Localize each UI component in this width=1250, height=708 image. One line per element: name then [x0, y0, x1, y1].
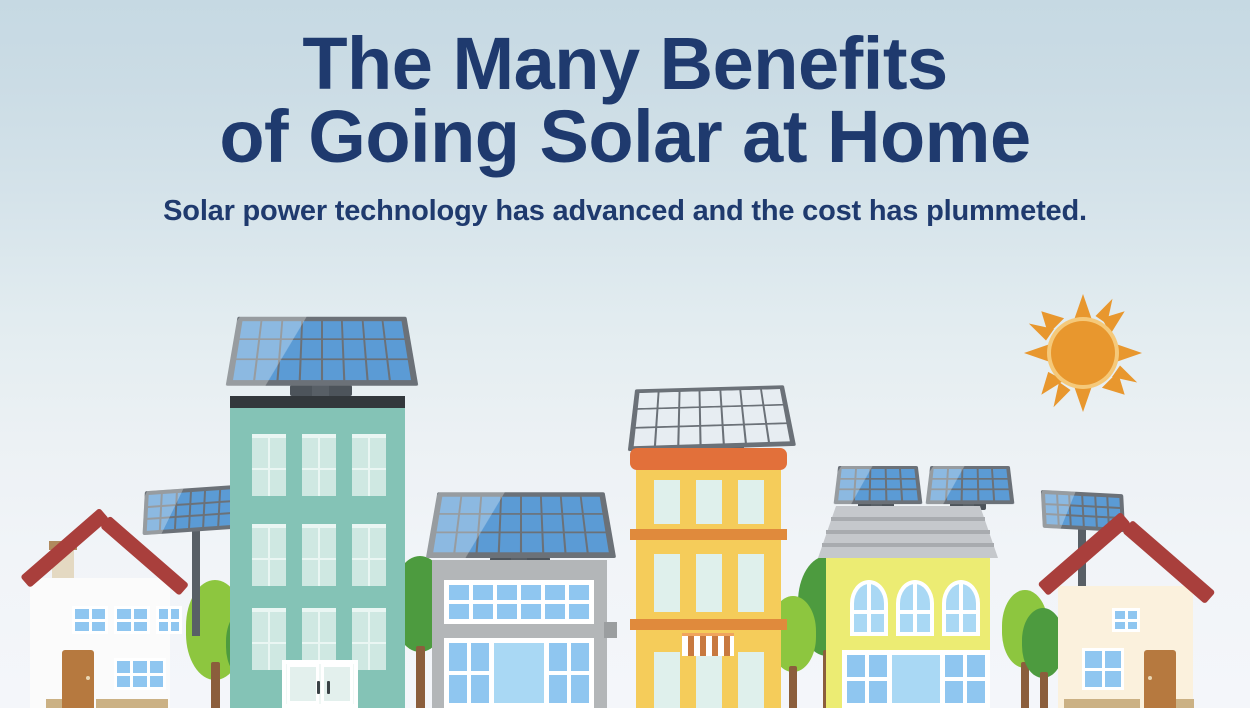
- window: [654, 480, 680, 524]
- window-band-upper: [444, 580, 594, 624]
- window: [696, 652, 722, 708]
- arched-window: [850, 580, 888, 636]
- window: [449, 643, 489, 703]
- storefront: [444, 638, 594, 708]
- window: [302, 434, 336, 496]
- building-house-right: [1034, 478, 1234, 708]
- window: [252, 524, 286, 586]
- door-knob: [86, 676, 90, 680]
- arched-window: [896, 580, 934, 636]
- window: [352, 434, 386, 496]
- solar-panel: [628, 385, 796, 451]
- floor-band: [630, 619, 787, 630]
- storefront: [842, 650, 990, 708]
- window: [738, 554, 764, 612]
- awning-scallop: [682, 652, 734, 656]
- window: [114, 658, 166, 690]
- building-store-green: [818, 440, 1018, 708]
- window: [738, 652, 764, 708]
- window: [847, 655, 887, 703]
- door-leaf-left[interactable]: [287, 664, 318, 704]
- storefront-glass-door[interactable]: [494, 643, 544, 703]
- solar-panel: [143, 485, 238, 535]
- solar-panel: [426, 492, 616, 558]
- store-roof: [818, 506, 998, 558]
- window-sill: [96, 699, 168, 708]
- poster-header: The Many Benefits of Going Solar at Home…: [0, 0, 1250, 228]
- arched-window: [942, 580, 980, 636]
- tree-trunk: [416, 646, 425, 708]
- sun-icon: [1024, 294, 1142, 412]
- window: [252, 608, 286, 670]
- solar-panel-post: [192, 526, 200, 636]
- window: [1112, 608, 1140, 632]
- cornice-top: [630, 448, 787, 470]
- window: [114, 606, 150, 634]
- solar-panel: [226, 317, 419, 386]
- door-knob: [1148, 676, 1152, 680]
- window: [252, 434, 286, 496]
- shop-awning: [682, 633, 734, 656]
- storefront-glass-door[interactable]: [892, 655, 940, 703]
- building-stack-yellow: [630, 388, 815, 708]
- wall-ledge: [604, 622, 617, 638]
- window: [945, 655, 985, 703]
- door-sill: [46, 699, 62, 708]
- floor-band: [630, 529, 787, 540]
- door-handle: [327, 681, 330, 694]
- window-grid: [449, 585, 589, 619]
- building-market-gray: [432, 450, 627, 708]
- window: [738, 480, 764, 524]
- entrance-doors[interactable]: [282, 660, 358, 708]
- solar-panel: [834, 466, 923, 504]
- window: [654, 652, 680, 708]
- window-sill: [1064, 699, 1140, 708]
- window: [696, 480, 722, 524]
- window: [549, 643, 589, 703]
- window: [352, 524, 386, 586]
- window: [302, 524, 336, 586]
- window: [696, 554, 722, 612]
- door-sill: [1176, 699, 1194, 708]
- window: [156, 606, 182, 634]
- solar-panel: [926, 466, 1015, 504]
- page-title: The Many Benefits of Going Solar at Home: [0, 0, 1250, 173]
- door-handle: [317, 681, 320, 694]
- building-tower-teal: [230, 300, 410, 708]
- page-subtitle: Solar power technology has advanced and …: [0, 173, 1250, 228]
- window: [654, 554, 680, 612]
- building-house-left: [14, 478, 214, 708]
- solar-infographic-poster: The Many Benefits of Going Solar at Home…: [0, 0, 1250, 708]
- window: [1082, 648, 1124, 690]
- title-line-2: of Going Solar at Home: [0, 101, 1250, 174]
- window: [72, 606, 108, 634]
- title-line-1: The Many Benefits: [0, 28, 1250, 101]
